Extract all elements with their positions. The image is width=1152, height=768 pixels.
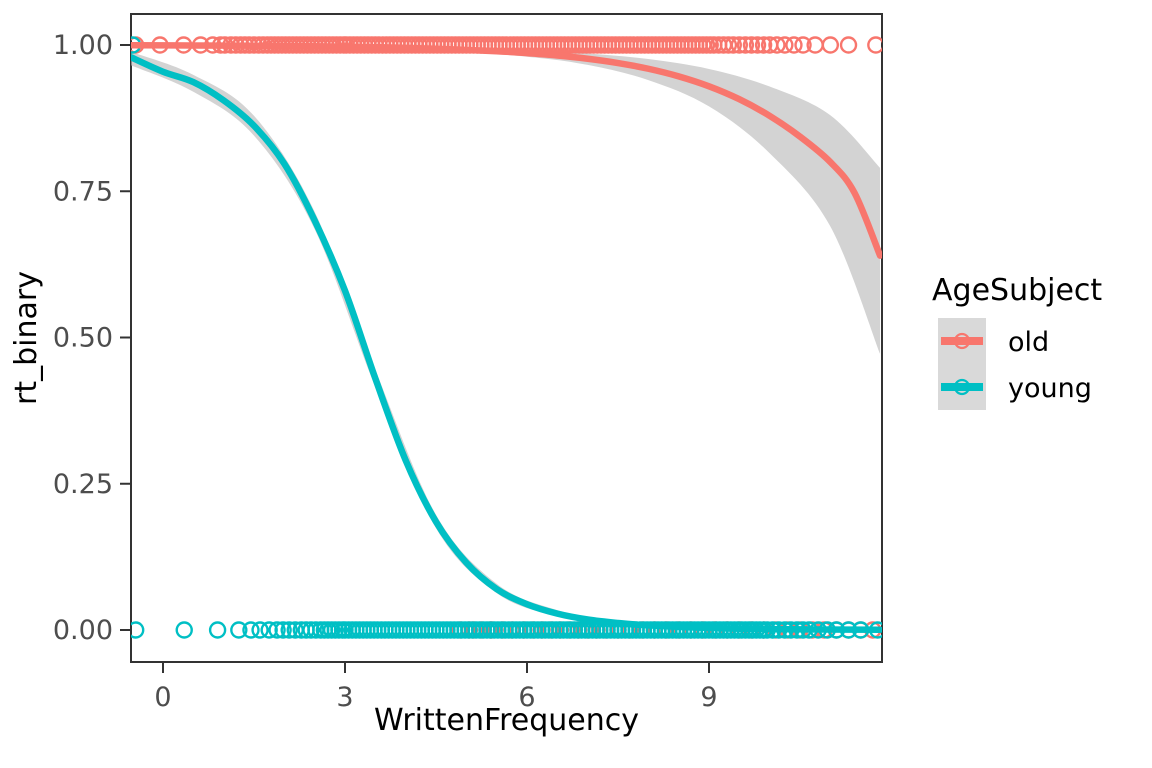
legend-label: old bbox=[1008, 327, 1049, 358]
y-axis-title: rt_binary bbox=[9, 271, 44, 405]
legend-title: AgeSubject bbox=[932, 273, 1102, 308]
legend-label: young bbox=[1008, 373, 1092, 404]
logistic-regression-plot: 0369 0.000.250.500.751.00 WrittenFrequen… bbox=[0, 0, 1152, 768]
y-tick-label: 1.00 bbox=[53, 30, 113, 61]
y-tick-label: 0.25 bbox=[53, 469, 113, 500]
chart-root: 0369 0.000.250.500.751.00 WrittenFrequen… bbox=[0, 0, 1152, 768]
y-tick-label: 0.75 bbox=[53, 176, 113, 207]
y-tick-label: 0.50 bbox=[53, 323, 113, 354]
x-tick-label: 9 bbox=[700, 682, 717, 713]
y-tick-label: 0.00 bbox=[53, 615, 113, 646]
x-axis-title: WrittenFrequency bbox=[374, 703, 639, 738]
x-tick-label: 0 bbox=[154, 682, 171, 713]
x-tick-label: 3 bbox=[336, 682, 353, 713]
